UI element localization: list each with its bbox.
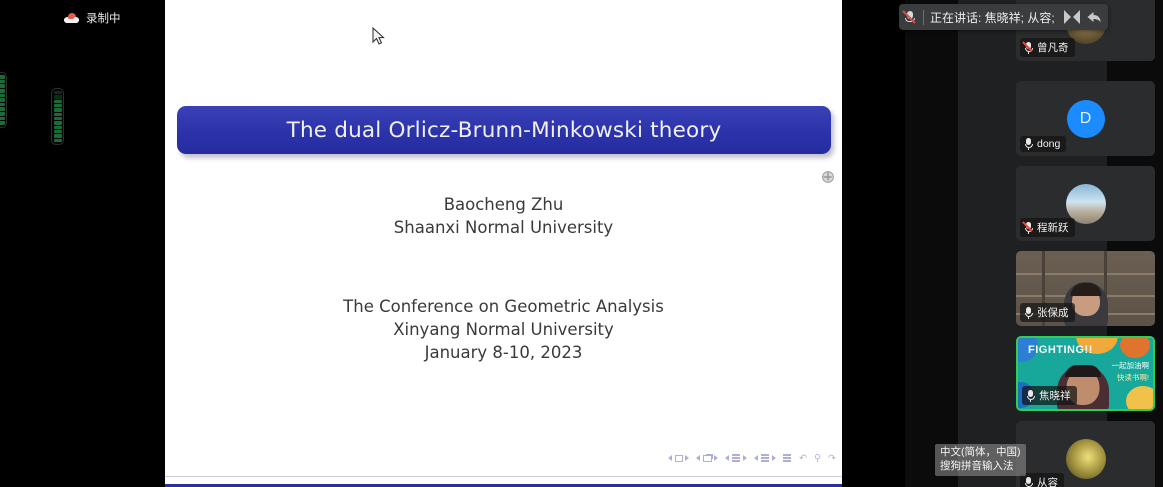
audio-level-meter-right — [51, 88, 64, 145]
slide-title-banner: The dual Orlicz-Brunn-Minkowski theory — [177, 106, 831, 154]
participant-namechip: 程新跃 — [1020, 218, 1075, 237]
page-title: The dual Orlicz-Brunn-Minkowski theory — [287, 118, 722, 143]
overlay-cn-line2: 快读书啊! — [1117, 372, 1149, 383]
presentation-stack-icon[interactable] — [761, 454, 770, 462]
nav-group-section[interactable] — [725, 454, 747, 462]
nav-group-presentation[interactable] — [754, 454, 776, 462]
nav-group-frame[interactable] — [668, 455, 689, 462]
screen-root: 录制中 The dual Orlicz-Brunn-Minkowski theo… — [0, 0, 1163, 487]
ime-language-line: 中文(简体，中国) — [940, 446, 1021, 460]
next-subsection-icon[interactable] — [714, 455, 718, 461]
back-arrow-icon[interactable] — [1086, 10, 1102, 24]
speaking-status-banner[interactable]: 正在讲话: 焦晓祥; 从容; — [899, 4, 1108, 30]
slide-author-block: Baocheng Zhu Shaanxi Normal University — [165, 194, 842, 240]
search-icon[interactable]: ⚲ — [814, 454, 821, 464]
participant-name: 程新跃 — [1037, 220, 1069, 235]
slide-bottom-rule — [165, 476, 842, 487]
participant-namechip: dong — [1020, 136, 1066, 152]
beamer-navigation-bar[interactable]: ↶ ⚲ ↷ — [668, 454, 836, 464]
recording-label: 录制中 — [86, 10, 121, 26]
mouse-pointer-cursor — [372, 27, 385, 45]
nav-group-subsection[interactable] — [696, 455, 718, 462]
banner-divider — [923, 10, 924, 25]
recording-indicator: 录制中 — [64, 10, 121, 26]
avatar — [1066, 439, 1106, 479]
participant-name: 张保成 — [1037, 305, 1069, 320]
participant-namechip: 曾凡奇 — [1020, 38, 1075, 57]
microphone-muted-icon[interactable] — [903, 10, 917, 25]
prev-frame-icon[interactable] — [668, 455, 672, 461]
participant-namechip: 焦晓祥 — [1022, 386, 1077, 405]
participant-rail-inner: 曾凡奇 D dong — [958, 0, 1107, 487]
microphone-icon — [1024, 138, 1033, 150]
next-presentation-icon[interactable] — [772, 455, 776, 461]
overlay-cn-line1: ⼀起加油啊 — [1112, 360, 1150, 371]
conference-dates: January 8-10, 2023 — [165, 342, 842, 365]
audio-level-meter-left — [0, 72, 7, 128]
ime-status-tooltip: 中文(简体，中国) 搜狗拼音输入法 — [935, 444, 1026, 476]
subsection-card-icon[interactable] — [703, 455, 712, 462]
participant-rail: 曾凡奇 D dong — [905, 0, 1163, 487]
collapse-arrows-icon[interactable] — [1064, 10, 1081, 25]
participant-name: dong — [1037, 138, 1060, 150]
participant-name: 曾凡奇 — [1037, 40, 1069, 55]
prev-presentation-icon[interactable] — [754, 455, 758, 461]
participant-tile[interactable]: 张保成 — [1016, 251, 1155, 326]
avatar-initial: D — [1080, 110, 1092, 128]
participant-tile-active-speaker[interactable]: FIGHTING!! ⼀起加油啊 快读书啊! 焦晓祥 — [1016, 336, 1155, 411]
next-frame-icon[interactable] — [685, 455, 689, 461]
redo-icon[interactable]: ↷ — [828, 454, 836, 464]
participant-tile[interactable]: 从容 — [1016, 421, 1155, 487]
avatar: D — [1067, 100, 1105, 138]
participant-namechip: 张保成 — [1020, 303, 1075, 322]
prev-subsection-icon[interactable] — [696, 455, 700, 461]
conference-name: The Conference on Geometric Analysis — [165, 296, 842, 319]
microphone-muted-icon — [1024, 222, 1033, 234]
next-section-icon[interactable] — [743, 455, 747, 461]
participant-tile[interactable]: D dong — [1016, 81, 1155, 156]
left-desktop-area: 录制中 — [0, 0, 165, 487]
prev-section-icon[interactable] — [725, 455, 729, 461]
participant-name: 焦晓祥 — [1039, 388, 1071, 403]
ime-method-line: 搜狗拼音输入法 — [940, 460, 1021, 474]
banner-buttons — [1064, 10, 1102, 25]
section-stack-icon[interactable] — [732, 454, 741, 462]
speaking-status-text: 正在讲话: 焦晓祥; 从容; — [930, 9, 1055, 26]
participant-name: 从容 — [1037, 475, 1058, 487]
slide-conference-block: The Conference on Geometric Analysis Xin… — [165, 296, 842, 364]
participant-namechip: 从容 — [1020, 473, 1064, 487]
shared-screen-slide[interactable]: The dual Orlicz-Brunn-Minkowski theory B… — [165, 0, 842, 487]
microphone-icon — [1024, 477, 1033, 487]
cloud-record-icon — [64, 13, 79, 23]
appendix-stack-icon[interactable] — [783, 454, 792, 462]
microphone-icon — [1024, 307, 1033, 319]
slide-canvas: The dual Orlicz-Brunn-Minkowski theory B… — [165, 0, 842, 476]
undo-icon[interactable]: ↶ — [799, 454, 807, 464]
grab-hand-cursor — [821, 170, 835, 184]
author-affiliation: Shaanxi Normal University — [165, 217, 842, 240]
frame-icon[interactable] — [675, 455, 683, 462]
microphone-muted-icon — [1024, 42, 1033, 54]
overlay-fighting-text: FIGHTING!! — [1028, 344, 1093, 356]
participant-tile[interactable]: 程新跃 — [1016, 166, 1155, 241]
microphone-icon — [1026, 390, 1035, 402]
author-name: Baocheng Zhu — [165, 194, 842, 217]
conference-venue: Xinyang Normal University — [165, 319, 842, 342]
